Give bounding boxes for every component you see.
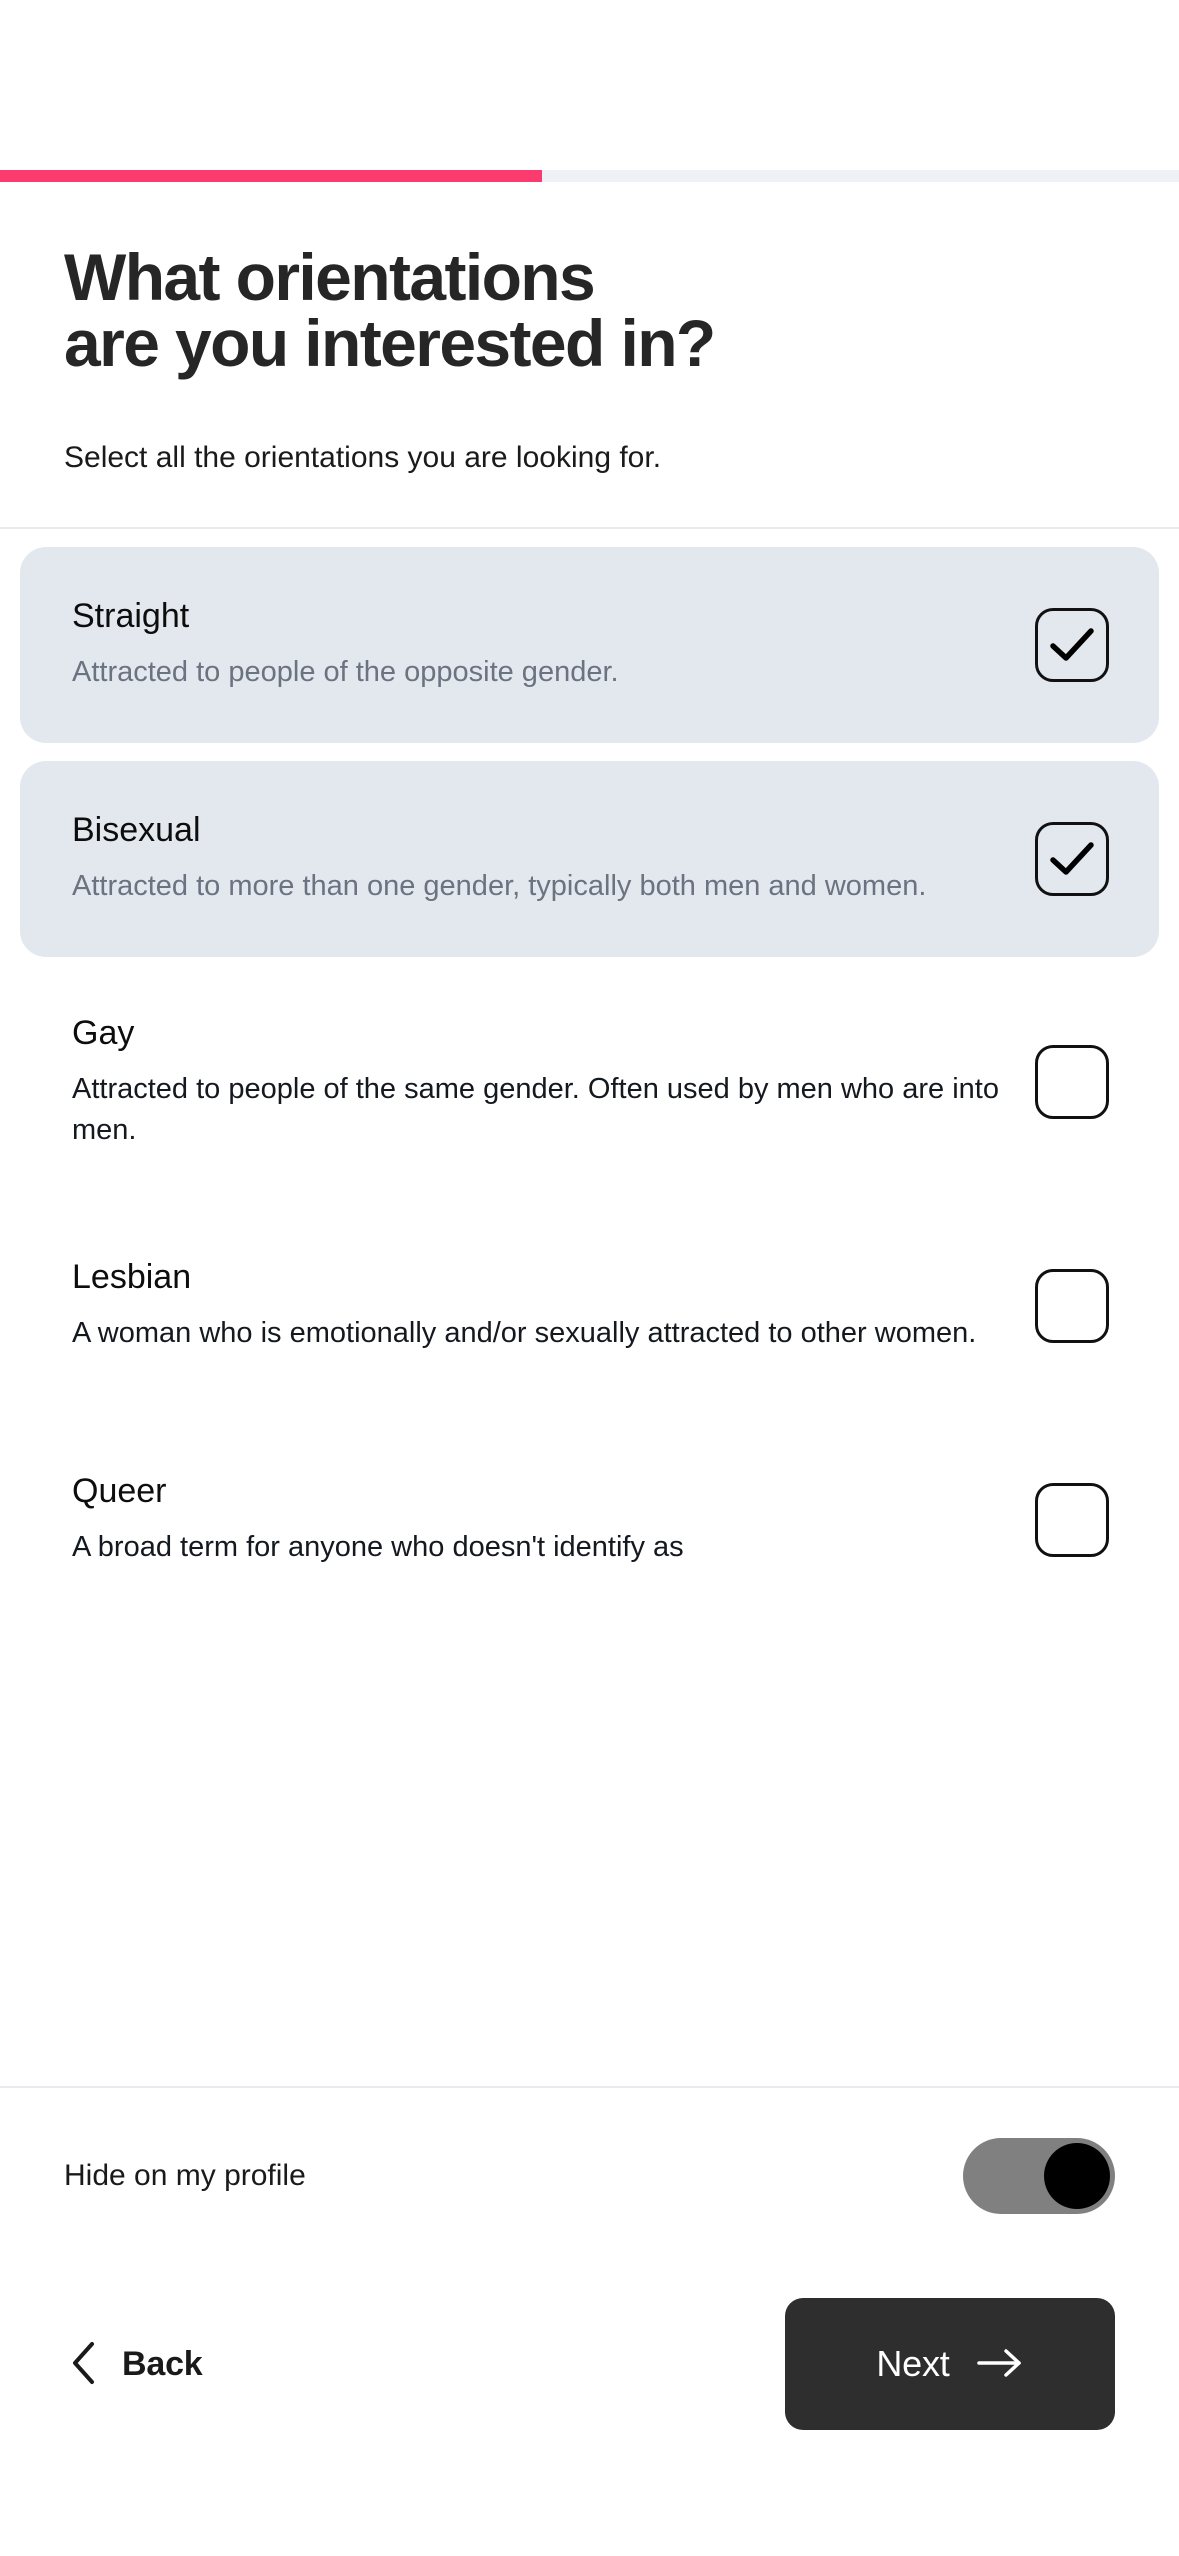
progress-bar-fill	[0, 170, 542, 182]
checkbox-checked-icon[interactable]	[1035, 608, 1109, 682]
page-subtitle: Select all the orientations you are look…	[64, 438, 1115, 479]
option-card-gay[interactable]: GayAttracted to people of the same gende…	[20, 975, 1159, 1190]
hide-on-profile-label: Hide on my profile	[64, 2159, 306, 2193]
checkbox-checked-icon[interactable]	[1035, 822, 1109, 896]
onboarding-screen: What orientations are you interested in?…	[0, 0, 1179, 2556]
option-text-group: BisexualAttracted to more than one gende…	[72, 810, 1035, 908]
option-text-group: GayAttracted to people of the same gende…	[72, 1013, 1035, 1152]
options-list: StraightAttracted to people of the oppos…	[0, 529, 1179, 1618]
option-label: Straight	[72, 596, 999, 637]
chevron-left-icon	[70, 2341, 96, 2388]
hide-on-profile-toggle[interactable]	[963, 2138, 1115, 2214]
option-text-group: LesbianA woman who is emotionally and/or…	[72, 1257, 1035, 1355]
page-title: What orientations are you interested in?	[64, 244, 1115, 376]
option-text-group: StraightAttracted to people of the oppos…	[72, 596, 1035, 694]
option-label: Bisexual	[72, 810, 999, 851]
navigation-row: Back Next	[64, 2264, 1115, 2464]
back-button[interactable]: Back	[64, 2327, 208, 2402]
option-description: A broad term for anyone who doesn't iden…	[72, 1527, 999, 1568]
status-bar-spacer	[0, 0, 1179, 170]
bottom-bar: Hide on my profile Back Next	[0, 2088, 1179, 2556]
option-card-straight[interactable]: StraightAttracted to people of the oppos…	[20, 547, 1159, 743]
checkbox-unchecked-icon[interactable]	[1035, 1045, 1109, 1119]
progress-bar-track	[0, 170, 1179, 182]
option-description: Attracted to people of the same gender. …	[72, 1069, 999, 1151]
next-button[interactable]: Next	[785, 2298, 1115, 2430]
checkbox-unchecked-icon[interactable]	[1035, 1269, 1109, 1343]
option-label: Queer	[72, 1471, 999, 1512]
option-label: Lesbian	[72, 1257, 999, 1298]
hide-on-profile-row[interactable]: Hide on my profile	[64, 2088, 1115, 2264]
home-indicator-spacer	[64, 2464, 1115, 2556]
header: What orientations are you interested in?…	[0, 182, 1179, 527]
toggle-knob	[1044, 2143, 1110, 2209]
page-title-line-1: What orientations	[64, 244, 1115, 310]
page-title-line-2: are you interested in?	[64, 310, 1115, 376]
option-description: A woman who is emotionally and/or sexual…	[72, 1313, 999, 1354]
option-text-group: QueerA broad term for anyone who doesn't…	[72, 1471, 1035, 1569]
next-button-label: Next	[876, 2343, 949, 2385]
option-card-queer[interactable]: QueerA broad term for anyone who doesn't…	[20, 1422, 1159, 1618]
option-card-bisexual[interactable]: BisexualAttracted to more than one gende…	[20, 761, 1159, 957]
option-description: Attracted to people of the opposite gend…	[72, 652, 999, 693]
option-label: Gay	[72, 1013, 999, 1054]
arrow-right-icon	[976, 2347, 1024, 2382]
checkbox-unchecked-icon[interactable]	[1035, 1483, 1109, 1557]
options-scroll-region[interactable]: StraightAttracted to people of the oppos…	[0, 527, 1179, 2089]
option-card-lesbian[interactable]: LesbianA woman who is emotionally and/or…	[20, 1208, 1159, 1404]
option-description: Attracted to more than one gender, typic…	[72, 866, 999, 907]
back-button-label: Back	[122, 2345, 202, 2384]
